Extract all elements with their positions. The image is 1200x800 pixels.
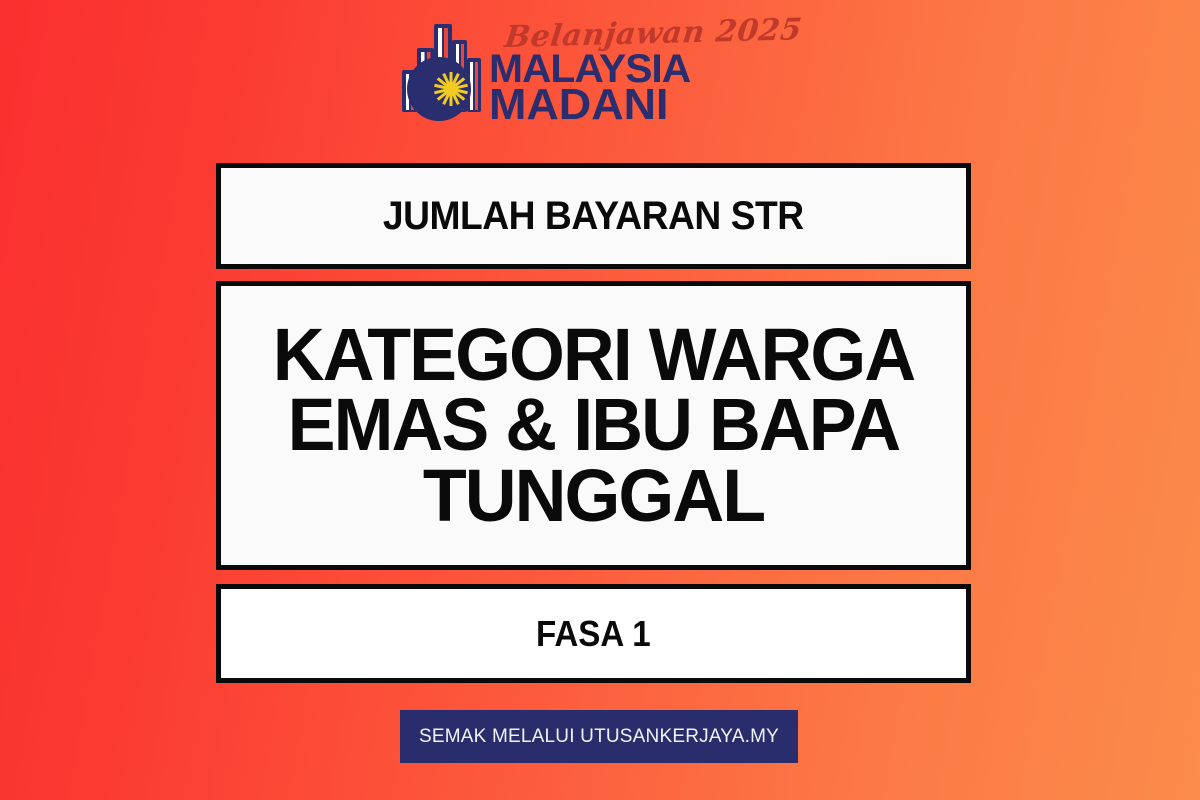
phase-text: FASA 1 — [536, 613, 651, 655]
malaysia-madani-logo-icon — [401, 14, 483, 122]
logo-wordmark: Belanjawan 2025 MALAYSIA MADANI — [489, 20, 799, 124]
brand-logo-block: Belanjawan 2025 MALAYSIA MADANI — [0, 14, 1200, 144]
crescent-moon-star-icon — [407, 57, 471, 121]
logo-inner: Belanjawan 2025 MALAYSIA MADANI — [401, 14, 799, 124]
phase-card: FASA 1 — [216, 584, 971, 683]
footer-cta-text: SEMAK MELALUI UTUSANKERJAYA.MY — [419, 726, 779, 748]
footer-cta-banner[interactable]: SEMAK MELALUI UTUSANKERJAYA.MY — [400, 710, 798, 763]
title-card: KATEGORI WARGA EMAS & IBU BAPA TUNGGAL — [216, 281, 971, 570]
subtitle-text: JUMLAH BAYARAN STR — [383, 194, 804, 239]
subtitle-card: JUMLAH BAYARAN STR — [216, 163, 971, 269]
page-title: KATEGORI WARGA EMAS & IBU BAPA TUNGGAL — [232, 320, 955, 531]
wordmark-madani: MADANI — [489, 86, 805, 124]
